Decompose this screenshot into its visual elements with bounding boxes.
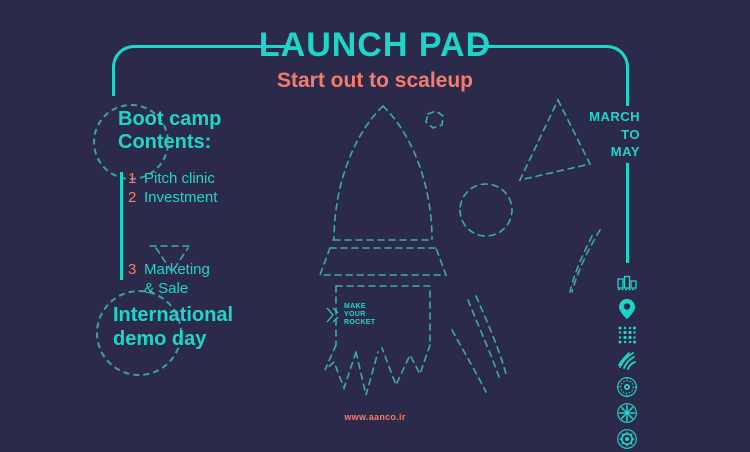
contents-list: 1 Pitch clinic 2 Investment 3 Marketing … [128, 170, 338, 299]
bootcamp-heading-line2: Contents: [118, 131, 338, 154]
poster-canvas: LAUNCH PAD Start out to scaleup Boot cam… [0, 0, 750, 450]
demo-day-line1: International [113, 303, 343, 327]
list-item-number: 1 [128, 170, 138, 187]
bootcamp-heading-line1: Boot camp [118, 108, 338, 131]
logo-line3: ROCKET [344, 319, 375, 327]
page-subtitle: Start out to scaleup [0, 70, 750, 91]
logo-line2: YOUR [344, 311, 375, 319]
location-pin-icon[interactable] [608, 296, 646, 321]
flame-swoosh-icon[interactable] [608, 348, 646, 373]
schedule-label: MARCH TO MAY [560, 108, 640, 161]
logo-line1: MAKE [344, 303, 375, 311]
page-title: LAUNCH PAD [0, 28, 750, 62]
demo-day-callout: International demo day [113, 303, 343, 351]
gear-circle-icon[interactable] [608, 374, 646, 399]
footer-url[interactable]: www.aanco.ir [0, 412, 750, 422]
list-item[interactable]: 2 Investment [128, 189, 338, 206]
logo-text: MAKE YOUR ROCKET [344, 303, 375, 327]
bootcamp-heading: Boot camp Contents: [118, 108, 338, 154]
contents-list-rule [120, 172, 123, 280]
list-item-label: Marketing [144, 261, 210, 278]
cog-circle-icon[interactable] [608, 426, 646, 451]
icon-column-rule [626, 163, 629, 263]
list-spacer [128, 209, 338, 261]
schedule-line2: TO [560, 126, 640, 144]
icon-column [608, 270, 646, 452]
list-item-number: 2 [128, 189, 138, 206]
list-item[interactable]: 3 Marketing [128, 261, 338, 278]
chart-building-icon[interactable] [608, 270, 646, 295]
list-item-label: Pitch clinic [144, 170, 215, 187]
schedule-line1: MARCH [560, 108, 640, 126]
header: LAUNCH PAD Start out to scaleup [0, 28, 750, 91]
make-your-rocket-logo: MAKE YOUR ROCKET [326, 303, 375, 327]
logo-mark-icon [326, 307, 340, 323]
demo-day-line2: demo day [113, 327, 343, 351]
schedule-line3: MAY [560, 143, 640, 161]
dotted-grid-icon[interactable] [608, 322, 646, 347]
list-item-label: Investment [144, 189, 217, 206]
list-item-number: 3 [128, 261, 138, 278]
list-item[interactable]: 1 Pitch clinic [128, 170, 338, 187]
